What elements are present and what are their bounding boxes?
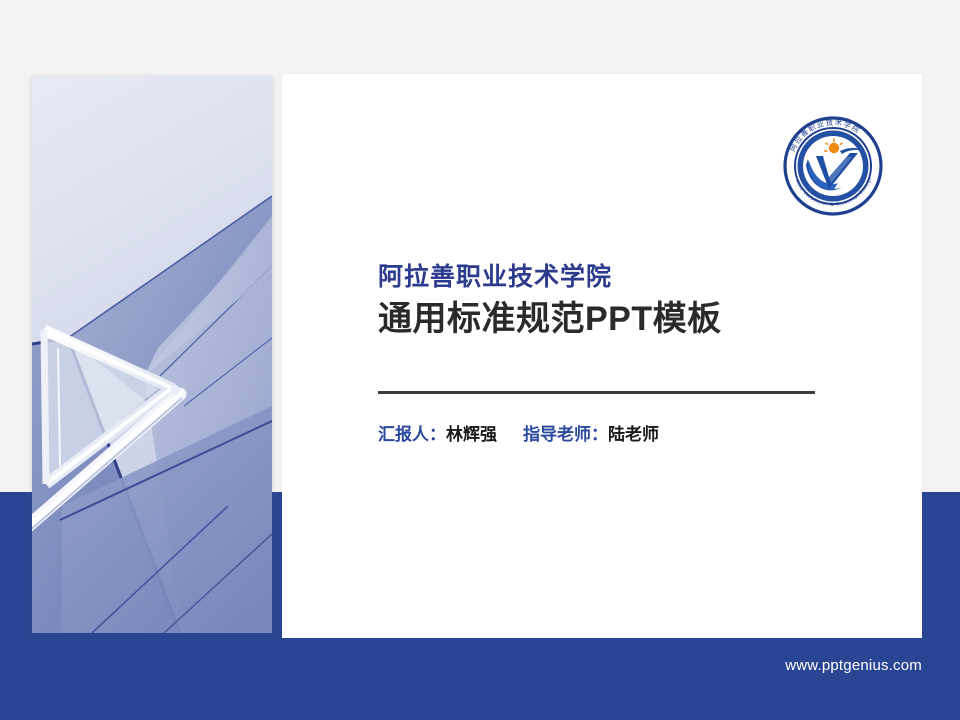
page-title: 通用标准规范PPT模板 <box>378 299 848 340</box>
presenter-label: 汇报人： <box>378 425 446 444</box>
advisor-label: 指导老师： <box>523 425 608 444</box>
title-block: 阿拉善职业技术学院 通用标准规范PPT模板 <box>378 262 848 340</box>
presenter-name: 林辉强 <box>446 425 497 444</box>
presentation-slide: www.pptgenius.com <box>0 0 960 720</box>
advisor-name: 陆老师 <box>608 425 659 444</box>
cover-photo <box>32 76 272 633</box>
architecture-photo-graphic <box>32 76 272 633</box>
institution-logo: 阿拉善职业技术学院 Alxa Vocational & Technical Co… <box>782 115 884 217</box>
logo-emblem-icon: 阿拉善职业技术学院 Alxa Vocational & Technical Co… <box>782 115 884 217</box>
organization-name: 阿拉善职业技术学院 <box>378 262 848 293</box>
title-divider <box>378 391 815 394</box>
footer-website-url[interactable]: www.pptgenius.com <box>785 657 922 674</box>
presenter-meta-row: 汇报人：林辉强指导老师：陆老师 <box>378 423 659 447</box>
